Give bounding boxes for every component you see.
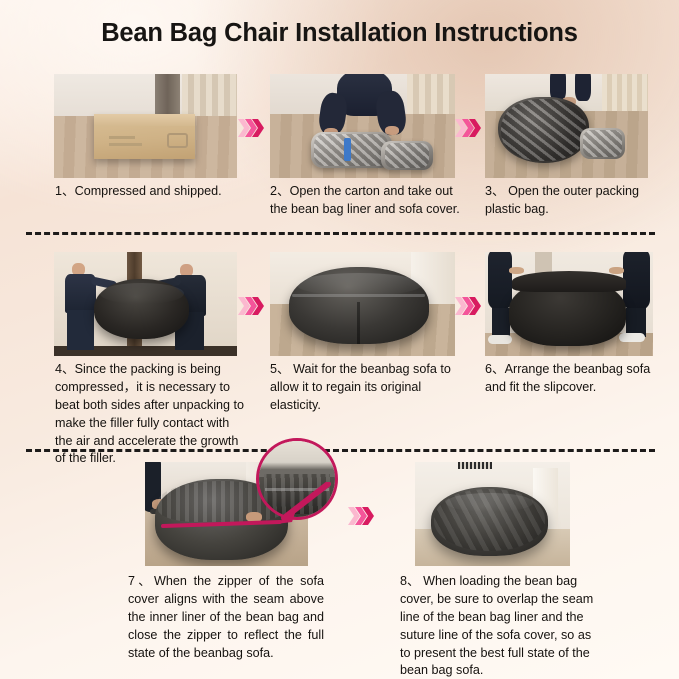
- step-5-image: [270, 252, 455, 356]
- step-6-image: [485, 252, 653, 356]
- instruction-poster: Bean Bag Chair Installation Instructions: [0, 0, 679, 679]
- pointer-arrow-icon: [268, 482, 332, 528]
- step-1-caption: 1、Compressed and shipped.: [55, 183, 250, 201]
- arrow-step-4-to-5: [238, 296, 264, 316]
- step-8-caption: 8、 When loading the bean bag cover, be s…: [400, 573, 600, 679]
- page-title: Bean Bag Chair Installation Instructions: [0, 19, 679, 48]
- step-6-caption: 6、Arrange the beanbag sofa and fit the s…: [485, 361, 661, 397]
- arrow-step-2-to-3: [455, 118, 481, 138]
- step-1-image: [54, 74, 237, 178]
- step-2-caption: 2、Open the carton and take out the bean …: [270, 183, 470, 219]
- step-3-caption: 3、 Open the outer packing plastic bag.: [485, 183, 665, 219]
- step-4-image: [54, 252, 237, 356]
- step-2-image: [270, 74, 455, 178]
- section-divider-1: [26, 232, 655, 235]
- step-5-caption: 5、 Wait for the beanbag sofa to allow it…: [270, 361, 466, 415]
- step-4-caption: 4、Since the packing is being compressed，…: [55, 361, 247, 468]
- step-8-image: [415, 462, 570, 566]
- step-7-caption: 7、When the zipper of the sofa cover alig…: [128, 573, 324, 662]
- arrow-step-7-to-8: [348, 506, 374, 526]
- step-3-image: [485, 74, 648, 178]
- arrow-step-1-to-2: [238, 118, 264, 138]
- arrow-step-5-to-6: [455, 296, 481, 316]
